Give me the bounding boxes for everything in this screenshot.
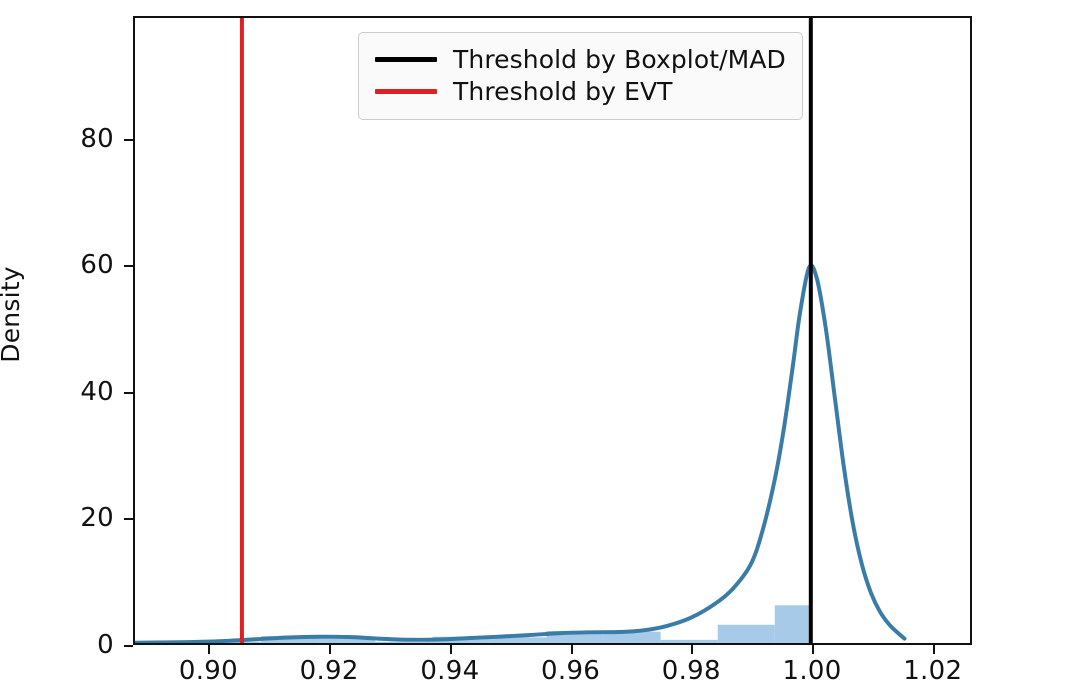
legend-label: Threshold by EVT [453,77,673,106]
histogram-bar [375,642,432,643]
kde-density-curve [135,265,905,642]
x-tick-mark [450,645,452,654]
x-tick-mark [691,645,693,654]
histogram-bar [775,605,811,643]
legend-color-swatch [375,57,437,62]
x-tick-label: 1.00 [782,656,841,686]
y-tick-label: 40 [0,377,114,407]
x-tick-mark [933,645,935,654]
x-tick-label: 1.02 [903,656,962,686]
y-tick-mark [124,265,133,267]
y-tick-label: 80 [0,124,114,154]
y-tick-label: 0 [0,630,114,660]
legend-entry: Threshold by Boxplot/MAD [375,43,786,75]
x-tick-mark [571,645,573,654]
y-tick-mark [124,139,133,141]
histogram-bar [718,625,775,643]
legend: Threshold by Boxplot/MADThreshold by EVT [358,32,803,120]
y-tick-mark [124,645,133,647]
x-tick-label: 0.98 [662,656,721,686]
histogram-bar [661,640,718,643]
x-tick-mark [329,645,331,654]
x-tick-mark [812,645,814,654]
x-tick-label: 0.92 [300,656,359,686]
x-tick-label: 0.96 [541,656,600,686]
x-tick-label: 0.94 [420,656,479,686]
legend-label: Threshold by Boxplot/MAD [453,45,786,74]
chart-figure: Density 0.900.920.940.960.981.001.02 020… [0,0,1080,687]
legend-entry: Threshold by EVT [375,75,786,107]
y-tick-label: 20 [0,503,114,533]
y-tick-mark [124,392,133,394]
x-tick-label: 0.90 [179,656,238,686]
y-tick-mark [124,518,133,520]
y-axis-label: Density [0,0,30,629]
legend-color-swatch [375,89,437,94]
y-tick-label: 60 [0,250,114,280]
x-tick-mark [208,645,210,654]
